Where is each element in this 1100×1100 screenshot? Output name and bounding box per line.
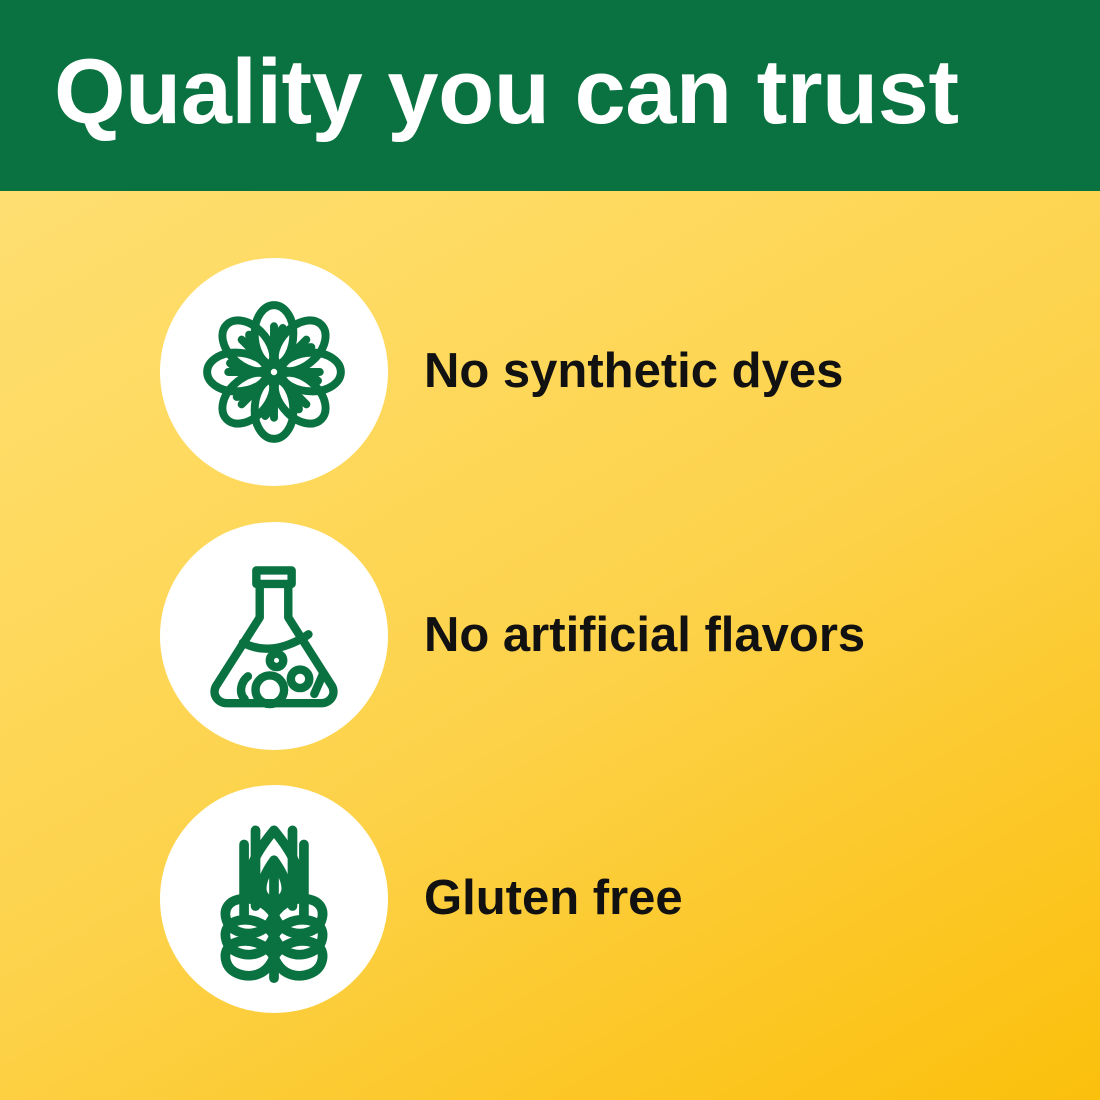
feature-item-gluten-free: Gluten free — [160, 785, 683, 1013]
icon-badge — [160, 785, 388, 1013]
header-band: Quality you can trust — [0, 0, 1100, 191]
flower-rosette-icon — [186, 284, 362, 460]
feature-item-no-artificial-flavors: No artificial flavors — [160, 522, 865, 750]
erlenmeyer-flask-icon — [190, 552, 358, 720]
feature-item-no-synthetic-dyes: No synthetic dyes — [160, 258, 843, 486]
icon-badge — [160, 522, 388, 750]
feature-list: No synthetic dyes — [0, 191, 1100, 1100]
wheat-stalk-icon — [186, 811, 362, 987]
icon-badge — [160, 258, 388, 486]
feature-label: No synthetic dyes — [424, 346, 843, 397]
feature-label: No artificial flavors — [424, 610, 865, 661]
feature-label: Gluten free — [424, 873, 683, 924]
page-title: Quality you can trust — [54, 46, 959, 138]
quality-poster: Quality you can trust — [0, 0, 1100, 1100]
